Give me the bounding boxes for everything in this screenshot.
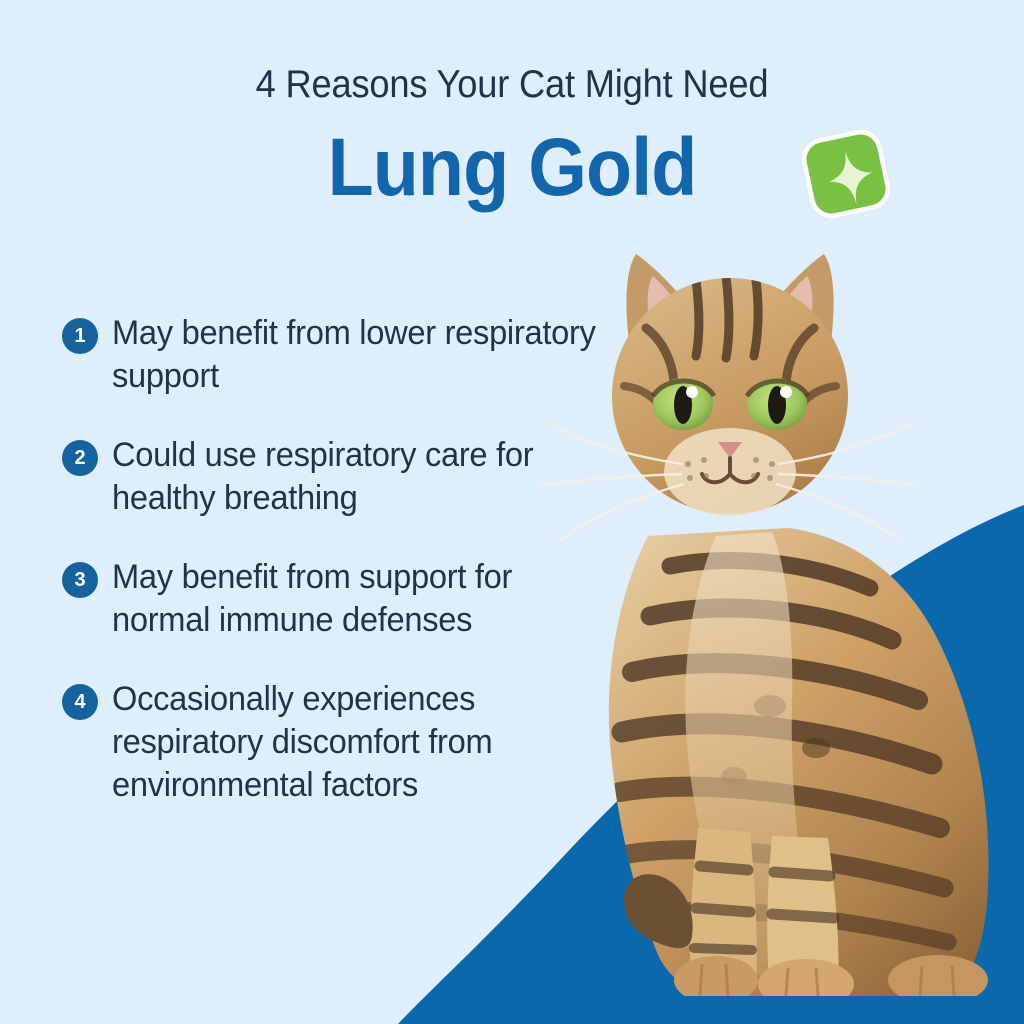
cat-head — [538, 276, 922, 542]
cat-body — [609, 528, 989, 996]
poster-canvas: 4 Reasons Your Cat Might Need Lung Gold … — [0, 0, 1024, 1024]
brand-sparkle-badge — [800, 128, 892, 220]
eyebrow-heading: 4 Reasons Your Cat Might Need — [36, 62, 988, 108]
cat-photo — [520, 236, 1024, 996]
reason-number-badge: 4 — [62, 684, 98, 720]
reason-number-badge: 1 — [62, 318, 98, 354]
reason-number-badge: 2 — [62, 440, 98, 476]
reason-number-badge: 3 — [62, 562, 98, 598]
